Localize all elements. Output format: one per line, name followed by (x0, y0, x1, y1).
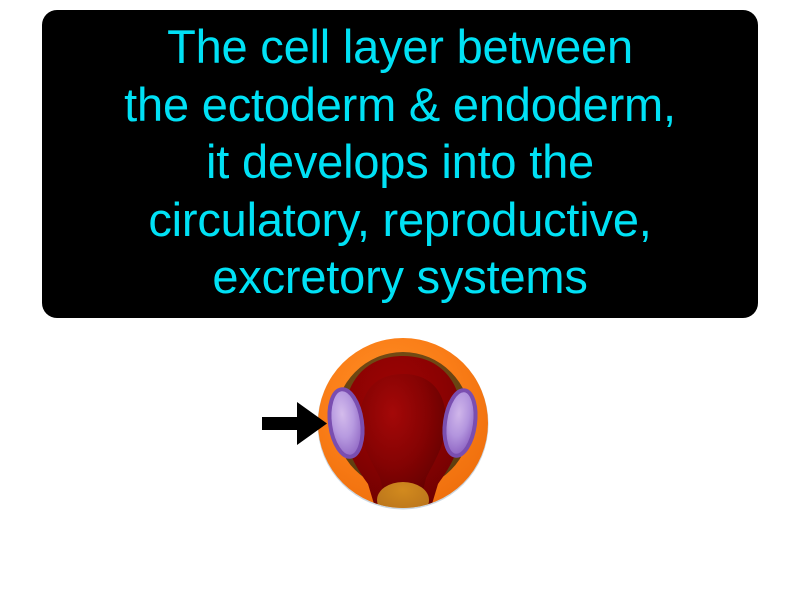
definition-text: The cell layer between the ectoderm & en… (52, 18, 748, 306)
gastrula-diagram (248, 328, 552, 518)
blastopore (377, 482, 429, 518)
gastrula-svg (248, 328, 552, 518)
flashcard-canvas: The cell layer between the ectoderm & en… (0, 0, 800, 600)
arrow-shaft (262, 417, 300, 430)
definition-card: The cell layer between the ectoderm & en… (42, 10, 758, 318)
pointer-arrow (262, 402, 327, 445)
